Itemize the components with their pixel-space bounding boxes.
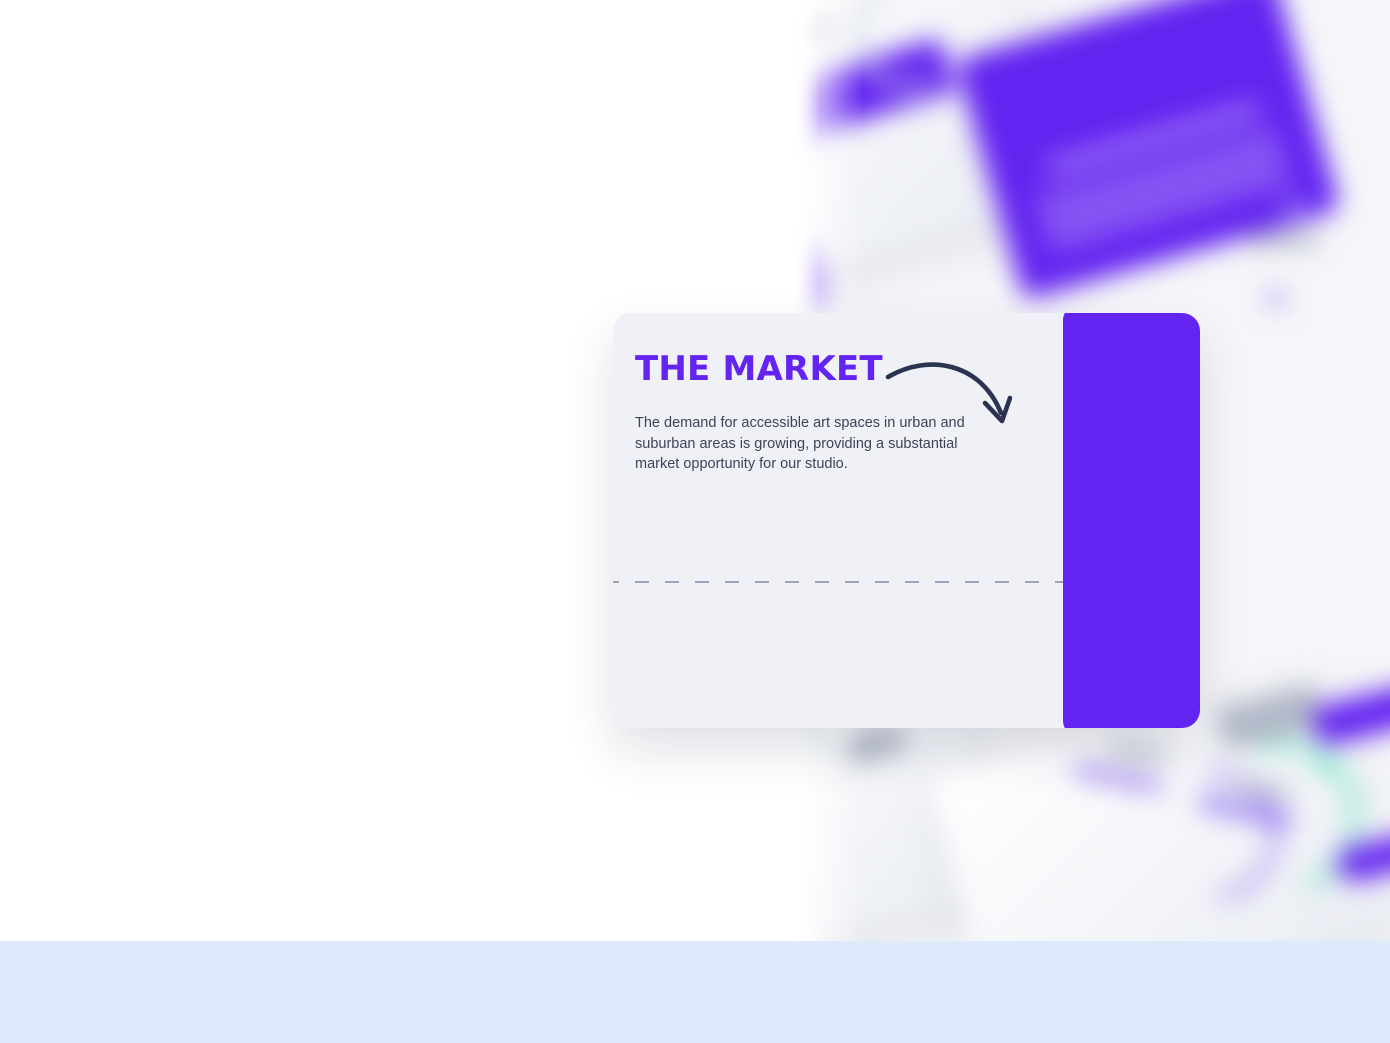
backdrop-purple-card bbox=[955, 0, 1341, 301]
market-preview-card[interactable]: THE MARKET The demand for accessible art… bbox=[613, 313, 1200, 728]
backdrop-dot-2 bbox=[1268, 290, 1284, 306]
accent-slab bbox=[1063, 313, 1200, 728]
backdrop-text-block-2 bbox=[1248, 232, 1318, 246]
backdrop-dot-4 bbox=[1318, 755, 1336, 773]
backdrop-dot-1 bbox=[1283, 195, 1305, 217]
footer-band bbox=[0, 941, 1390, 1043]
slide-canvas: Business Idea Kit Market Validation Show… bbox=[0, 0, 1390, 1043]
